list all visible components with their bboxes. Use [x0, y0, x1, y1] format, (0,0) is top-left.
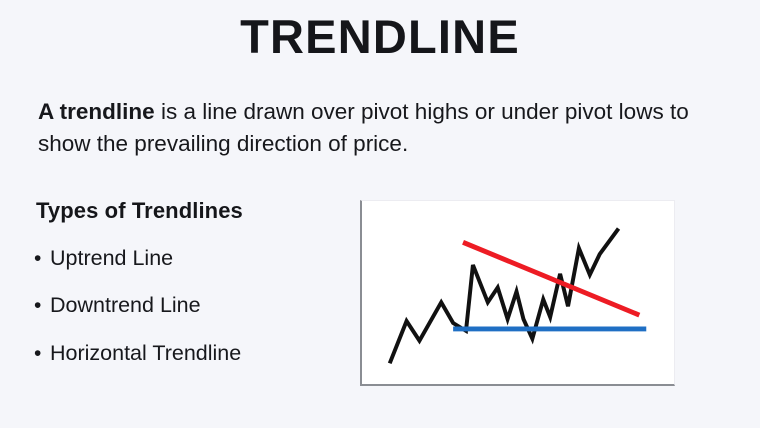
trendline-chart — [362, 201, 674, 384]
list-item-label: Uptrend Line — [50, 246, 173, 271]
price-action-polyline — [390, 229, 619, 364]
bullet-icon: • — [34, 343, 50, 364]
list-item-label: Downtrend Line — [50, 293, 201, 318]
bullet-icon: • — [34, 295, 50, 316]
list-item: • Horizontal Trendline — [34, 341, 354, 366]
slide-root: TRENDLINE A trendline is a line drawn ov… — [0, 0, 760, 428]
types-list: • Uptrend Line • Downtrend Line • Horizo… — [34, 246, 354, 366]
trendline-chart-panel — [360, 200, 675, 386]
bullet-icon: • — [34, 248, 50, 269]
types-heading: Types of Trendlines — [36, 198, 354, 224]
list-item-label: Horizontal Trendline — [50, 341, 241, 366]
page-title: TRENDLINE — [0, 8, 760, 65]
intro-lead: A trendline — [38, 99, 155, 124]
intro-paragraph: A trendline is a line drawn over pivot h… — [38, 96, 698, 160]
types-section: Types of Trendlines • Uptrend Line • Dow… — [34, 198, 354, 388]
list-item: • Uptrend Line — [34, 246, 354, 271]
list-item: • Downtrend Line — [34, 293, 354, 318]
